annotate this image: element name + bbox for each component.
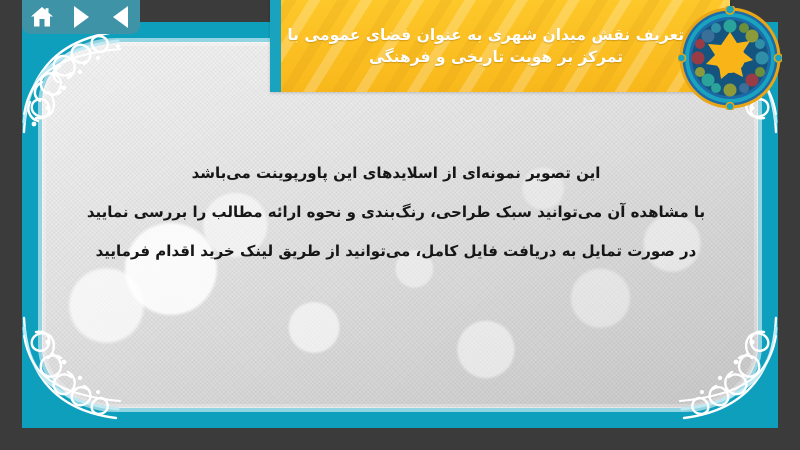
triangle-left-icon [113,6,128,28]
slide-title: بازتعریف نقش میدان شهری به عنوان فضای عم… [270,24,722,69]
title-band-left-edge [270,0,281,92]
previous-slide-button[interactable] [105,4,135,30]
slide-body-text: این تصویر نمونه‌ای از اسلایدهای این پاور… [62,154,730,271]
home-button[interactable] [27,4,57,30]
next-slide-button[interactable] [66,4,96,30]
body-line-2: با مشاهده آن می‌توانید سبک طراحی، رنگ‌بن… [62,193,730,232]
triangle-right-icon [74,6,89,28]
body-line-1: این تصویر نمونه‌ای از اسلایدهای این پاور… [62,154,730,193]
home-icon [29,5,55,29]
slide-navigation-toolbar [22,0,140,34]
slide-title-band: بازتعریف نقش میدان شهری به عنوان فضای عم… [270,0,730,92]
body-line-3: در صورت تمایل به دریافت فایل کامل، می‌تو… [62,232,730,271]
islamic-mandala-medallion-icon [678,6,782,110]
